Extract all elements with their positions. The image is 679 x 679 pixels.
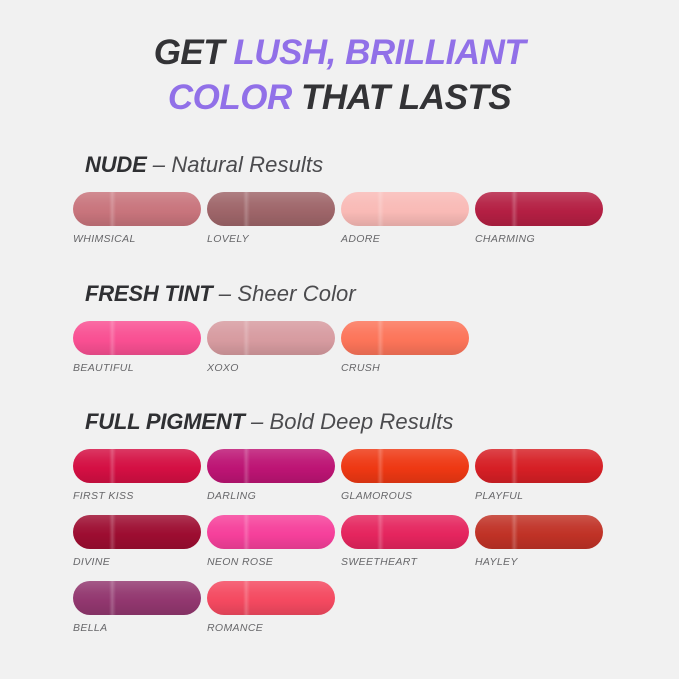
- section-fresh-tint-heading: FRESH TINT – Sheer Color: [0, 281, 679, 307]
- shade-swatch-bella[interactable]: [73, 581, 201, 615]
- section-nude-heading: NUDE – Natural Results: [0, 152, 679, 178]
- shade-label: ADORE: [341, 233, 475, 245]
- shade-label: DARLING: [207, 490, 341, 502]
- swatch-cell[interactable]: DIVINE: [73, 515, 207, 581]
- shade-label: SWEETHEART: [341, 556, 475, 568]
- shade-swatch-crush[interactable]: [341, 321, 469, 355]
- section-nude-swatch-grid: WHIMSICAL LOVELY ADORE CHARMING: [0, 178, 679, 258]
- swatch-cell[interactable]: NEON ROSE: [207, 515, 341, 581]
- swatch-row: FIRST KISS DARLING GLAMOROUS PLAYFUL: [73, 449, 679, 515]
- swatch-cell[interactable]: DARLING: [207, 449, 341, 515]
- shade-label: DIVINE: [73, 556, 207, 568]
- swatch-row: DIVINE NEON ROSE SWEETHEART HAYLEY: [73, 515, 679, 581]
- page-title: GET LUSH, BRILLIANT COLOR THAT LASTS: [0, 31, 679, 121]
- shade-swatch-romance[interactable]: [207, 581, 335, 615]
- shade-label: CRUSH: [341, 362, 475, 374]
- shade-label: BELLA: [73, 622, 207, 634]
- section-fresh-tint: FRESH TINT – Sheer Color BEAUTIFUL XOXO …: [0, 281, 679, 387]
- shade-swatch-xoxo[interactable]: [207, 321, 335, 355]
- swatch-row: BELLA ROMANCE: [73, 581, 679, 647]
- section-nude-name: NUDE: [85, 152, 147, 177]
- swatch-cell[interactable]: SWEETHEART: [341, 515, 475, 581]
- shade-label: CHARMING: [475, 233, 609, 245]
- swatch-cell[interactable]: BELLA: [73, 581, 207, 647]
- shade-label: PLAYFUL: [475, 490, 609, 502]
- page-title-accent-1: LUSH, BRILLIANT: [233, 33, 525, 72]
- shade-label: BEAUTIFUL: [73, 362, 207, 374]
- swatch-cell[interactable]: CHARMING: [475, 192, 609, 258]
- swatch-cell[interactable]: GLAMOROUS: [341, 449, 475, 515]
- shade-swatch-first-kiss[interactable]: [73, 449, 201, 483]
- swatch-cell[interactable]: BEAUTIFUL: [73, 321, 207, 387]
- page-title-line-1: GET LUSH, BRILLIANT: [154, 33, 526, 72]
- lipstick-shade-chart: GET LUSH, BRILLIANT COLOR THAT LASTS NUD…: [0, 0, 679, 679]
- section-fresh-tint-dash: –: [213, 281, 238, 306]
- section-fresh-tint-swatch-grid: BEAUTIFUL XOXO CRUSH: [0, 307, 679, 387]
- swatch-cell[interactable]: ROMANCE: [207, 581, 341, 647]
- swatch-cell[interactable]: CRUSH: [341, 321, 475, 387]
- shade-swatch-sweetheart[interactable]: [341, 515, 469, 549]
- shade-swatch-hayley[interactable]: [475, 515, 603, 549]
- swatch-cell[interactable]: LOVELY: [207, 192, 341, 258]
- swatch-cell[interactable]: PLAYFUL: [475, 449, 609, 515]
- shade-swatch-charming[interactable]: [475, 192, 603, 226]
- swatch-cell[interactable]: HAYLEY: [475, 515, 609, 581]
- section-full-pigment-description: Bold Deep Results: [270, 409, 454, 434]
- shade-label: XOXO: [207, 362, 341, 374]
- page-title-line-2: COLOR THAT LASTS: [168, 78, 511, 117]
- section-full-pigment-dash: –: [245, 409, 270, 434]
- swatch-cell[interactable]: ADORE: [341, 192, 475, 258]
- shade-swatch-lovely[interactable]: [207, 192, 335, 226]
- shade-label: LOVELY: [207, 233, 341, 245]
- swatch-cell[interactable]: XOXO: [207, 321, 341, 387]
- shade-swatch-beautiful[interactable]: [73, 321, 201, 355]
- section-full-pigment-swatch-grid: FIRST KISS DARLING GLAMOROUS PLAYFUL: [0, 435, 679, 647]
- shade-swatch-whimsical[interactable]: [73, 192, 201, 226]
- section-nude: NUDE – Natural Results WHIMSICAL LOVELY …: [0, 152, 679, 258]
- section-nude-description: Natural Results: [171, 152, 323, 177]
- swatch-row: WHIMSICAL LOVELY ADORE CHARMING: [73, 192, 679, 258]
- page-title-accent-2: COLOR: [168, 78, 292, 117]
- shade-swatch-darling[interactable]: [207, 449, 335, 483]
- shade-label: ROMANCE: [207, 622, 341, 634]
- swatch-cell[interactable]: WHIMSICAL: [73, 192, 207, 258]
- shade-label: HAYLEY: [475, 556, 609, 568]
- shade-label: WHIMSICAL: [73, 233, 207, 245]
- page-title-tail: THAT LASTS: [292, 78, 511, 117]
- shade-label: FIRST KISS: [73, 490, 207, 502]
- shade-label: NEON ROSE: [207, 556, 341, 568]
- section-full-pigment-heading: FULL PIGMENT – Bold Deep Results: [0, 409, 679, 435]
- section-fresh-tint-name: FRESH TINT: [85, 281, 213, 306]
- swatch-cell[interactable]: FIRST KISS: [73, 449, 207, 515]
- shade-swatch-divine[interactable]: [73, 515, 201, 549]
- shade-label: GLAMOROUS: [341, 490, 475, 502]
- page-title-word-get: GET: [154, 33, 234, 72]
- section-fresh-tint-description: Sheer Color: [237, 281, 356, 306]
- section-full-pigment: FULL PIGMENT – Bold Deep Results FIRST K…: [0, 409, 679, 647]
- shade-swatch-playful[interactable]: [475, 449, 603, 483]
- shade-swatch-glamorous[interactable]: [341, 449, 469, 483]
- swatch-row: BEAUTIFUL XOXO CRUSH: [73, 321, 679, 387]
- section-nude-dash: –: [147, 152, 172, 177]
- shade-swatch-neon-rose[interactable]: [207, 515, 335, 549]
- shade-swatch-adore[interactable]: [341, 192, 469, 226]
- section-full-pigment-name: FULL PIGMENT: [85, 409, 245, 434]
